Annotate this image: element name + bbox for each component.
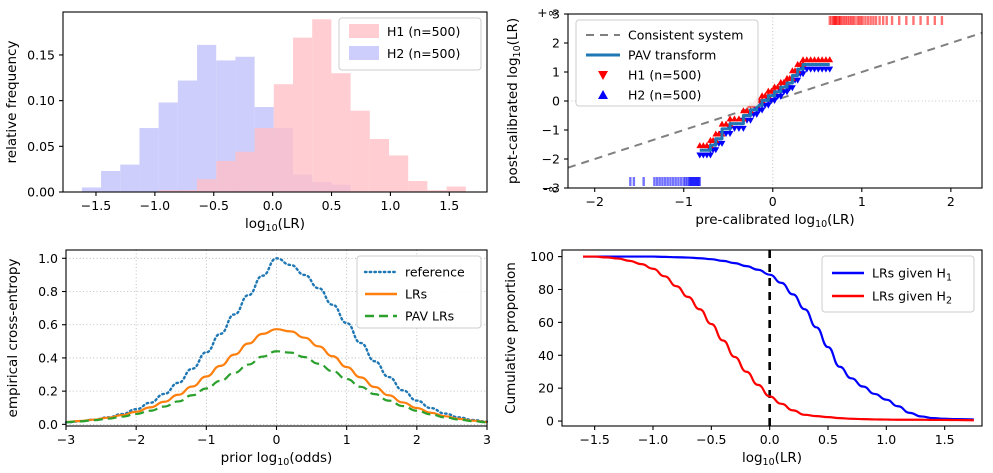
x-tick-label: 0.0 <box>760 432 780 447</box>
y-tick-label: 100 <box>530 249 554 264</box>
x-tick-label: −1.0 <box>140 198 170 213</box>
histogram-bar <box>351 111 370 192</box>
y-axis-label: relative frequency <box>4 41 20 164</box>
panel-histogram: −1.5−1.0−0.50.00.51.01.50.000.050.100.15… <box>0 0 500 236</box>
y-tick-label: 2 <box>552 36 560 51</box>
legend-label: PAV transform <box>628 48 716 63</box>
rug-h1 <box>830 16 942 25</box>
histogram-bar <box>274 84 293 192</box>
histogram-bar <box>159 102 178 192</box>
ece-line-lrs <box>66 329 487 422</box>
x-tick-label: −1.0 <box>638 432 668 447</box>
y-tick-label: 0.15 <box>27 47 55 62</box>
histogram-bar <box>312 19 331 192</box>
ece-chart: −3−2−101230.00.20.40.60.81.0prior log10(… <box>0 236 500 473</box>
x-tick-label: 3 <box>483 432 491 447</box>
y-axis-plus-infinity: +∞ <box>537 5 558 20</box>
x-tick-label: 0 <box>273 432 281 447</box>
y-tick-label: 0.00 <box>27 185 55 200</box>
x-tick-label: −1.5 <box>81 198 111 213</box>
pav-legend: Consistent systemPAV transformH1 (n=500)… <box>576 20 758 106</box>
x-tick-label: 1 <box>858 194 866 209</box>
x-tick-label: 0 <box>769 194 777 209</box>
histogram-bar <box>197 45 216 192</box>
figure-canvas: −1.5−1.0−0.50.00.51.01.50.000.050.100.15… <box>0 0 993 473</box>
x-axis-label: log10(LR) <box>245 216 305 234</box>
legend-label: LRs <box>405 287 427 302</box>
legend-swatch <box>349 24 379 38</box>
histogram-bar <box>139 128 158 192</box>
x-tick-label: −3 <box>57 432 75 447</box>
legend-label: H2 (n=500) <box>628 88 701 103</box>
x-tick-label: −2 <box>585 194 603 209</box>
svg-text:post-calibrated log10(LR): post-calibrated log10(LR) <box>505 18 523 184</box>
legend-label: PAV LRs <box>405 309 454 324</box>
pav-chart: −2−1012−3−2−10123+∞-∞pre-calibrated log1… <box>500 0 993 236</box>
histogram-bar <box>216 161 235 192</box>
panel-pav: −2−1012−3−2−10123+∞-∞pre-calibrated log1… <box>500 0 993 236</box>
x-tick-label: 1.5 <box>439 198 459 213</box>
x-tick-label: 2 <box>413 432 421 447</box>
y-tick-label: 80 <box>538 282 554 297</box>
x-tick-label: 1.5 <box>935 432 955 447</box>
y-tick-label: −2 <box>542 152 560 167</box>
rug-h2 <box>630 177 699 186</box>
y-tick-label: 0.6 <box>38 317 58 332</box>
y-tick-label: 1.0 <box>38 251 58 266</box>
h2-marker <box>740 126 747 132</box>
x-axis-label: log10(LR) <box>742 450 802 468</box>
x-tick-label: 1.0 <box>876 432 896 447</box>
x-tick-label: −1 <box>675 194 693 209</box>
y-tick-label: 0.4 <box>38 350 58 365</box>
x-tick-label: −1 <box>197 432 215 447</box>
y-tick-label: 40 <box>538 348 554 363</box>
histogram-bar <box>235 152 254 192</box>
legend-label: H2 (n=500) <box>387 46 460 61</box>
histogram-chart: −1.5−1.0−0.50.00.51.01.50.000.050.100.15… <box>0 0 500 236</box>
y-tick-label: 20 <box>538 381 554 396</box>
panel-ece: −3−2−101230.00.20.40.60.81.0prior log10(… <box>0 236 500 473</box>
y-tick-label: 60 <box>538 315 554 330</box>
x-tick-label: 0.5 <box>818 432 838 447</box>
x-axis-label: prior log10(odds) <box>221 450 333 468</box>
y-tick-label: 0.10 <box>27 93 55 108</box>
histogram-legend: H1 (n=500)H2 (n=500) <box>339 18 481 70</box>
legend-swatch <box>349 46 379 60</box>
x-tick-label: 2 <box>947 194 955 209</box>
x-tick-label: 0.5 <box>322 198 342 213</box>
x-tick-label: −2 <box>127 432 145 447</box>
histogram-bar <box>101 171 120 192</box>
panel-tippett: −1.5−1.0−0.50.00.51.01.5020406080100log1… <box>500 236 993 473</box>
y-tick-label: 0 <box>546 414 554 429</box>
histogram-bar <box>408 181 427 192</box>
histogram-bar <box>331 73 350 192</box>
tippett-chart: −1.5−1.0−0.50.00.51.01.5020406080100log1… <box>500 236 993 473</box>
svg-text:log10(LR): log10(LR) <box>245 216 305 234</box>
y-axis-label: post-calibrated log10(LR) <box>505 18 523 184</box>
x-tick-label: −0.5 <box>199 198 229 213</box>
legend-label: H1 (n=500) <box>387 24 460 39</box>
x-tick-label: −1.5 <box>579 432 609 447</box>
y-tick-label: 0 <box>552 94 560 109</box>
y-tick-label: 0.0 <box>38 417 58 432</box>
svg-text:log10(LR): log10(LR) <box>742 450 802 468</box>
ece-legend: referenceLRsPAV LRs <box>357 256 481 328</box>
tippett-legend: LRs given H1LRs given H2 <box>822 256 974 312</box>
histogram-bar <box>178 81 197 192</box>
y-axis-label: empirical cross-entropy <box>5 259 21 418</box>
x-tick-label: 1 <box>343 432 351 447</box>
y-axis-minus-infinity: -∞ <box>543 181 558 196</box>
legend-label: reference <box>405 265 465 280</box>
histogram-bar <box>370 139 389 192</box>
legend-label: H1 (n=500) <box>628 68 701 83</box>
legend-label: Consistent system <box>628 28 743 43</box>
y-axis-label: Cumulative proportion <box>503 262 519 414</box>
histogram-bar <box>255 128 274 192</box>
x-tick-label: −0.5 <box>696 432 726 447</box>
y-tick-label: 0.2 <box>38 384 58 399</box>
svg-text:pre-calibrated log10(LR): pre-calibrated log10(LR) <box>695 212 854 230</box>
histogram-bar <box>447 187 466 192</box>
x-tick-label: 1.0 <box>380 198 400 213</box>
svg-text:prior log10(odds): prior log10(odds) <box>221 450 333 468</box>
y-tick-label: −1 <box>542 123 560 138</box>
histogram-bar <box>120 165 139 192</box>
y-tick-label: 0.05 <box>27 139 55 154</box>
x-axis-label: pre-calibrated log10(LR) <box>695 212 854 230</box>
histogram-bar <box>82 187 101 192</box>
histogram-bar <box>293 38 312 192</box>
x-tick-label: 0.0 <box>263 198 283 213</box>
y-tick-label: 0.8 <box>38 284 58 299</box>
histogram-bar <box>389 155 408 192</box>
y-tick-label: 1 <box>552 65 560 80</box>
histogram-bar <box>197 179 216 192</box>
